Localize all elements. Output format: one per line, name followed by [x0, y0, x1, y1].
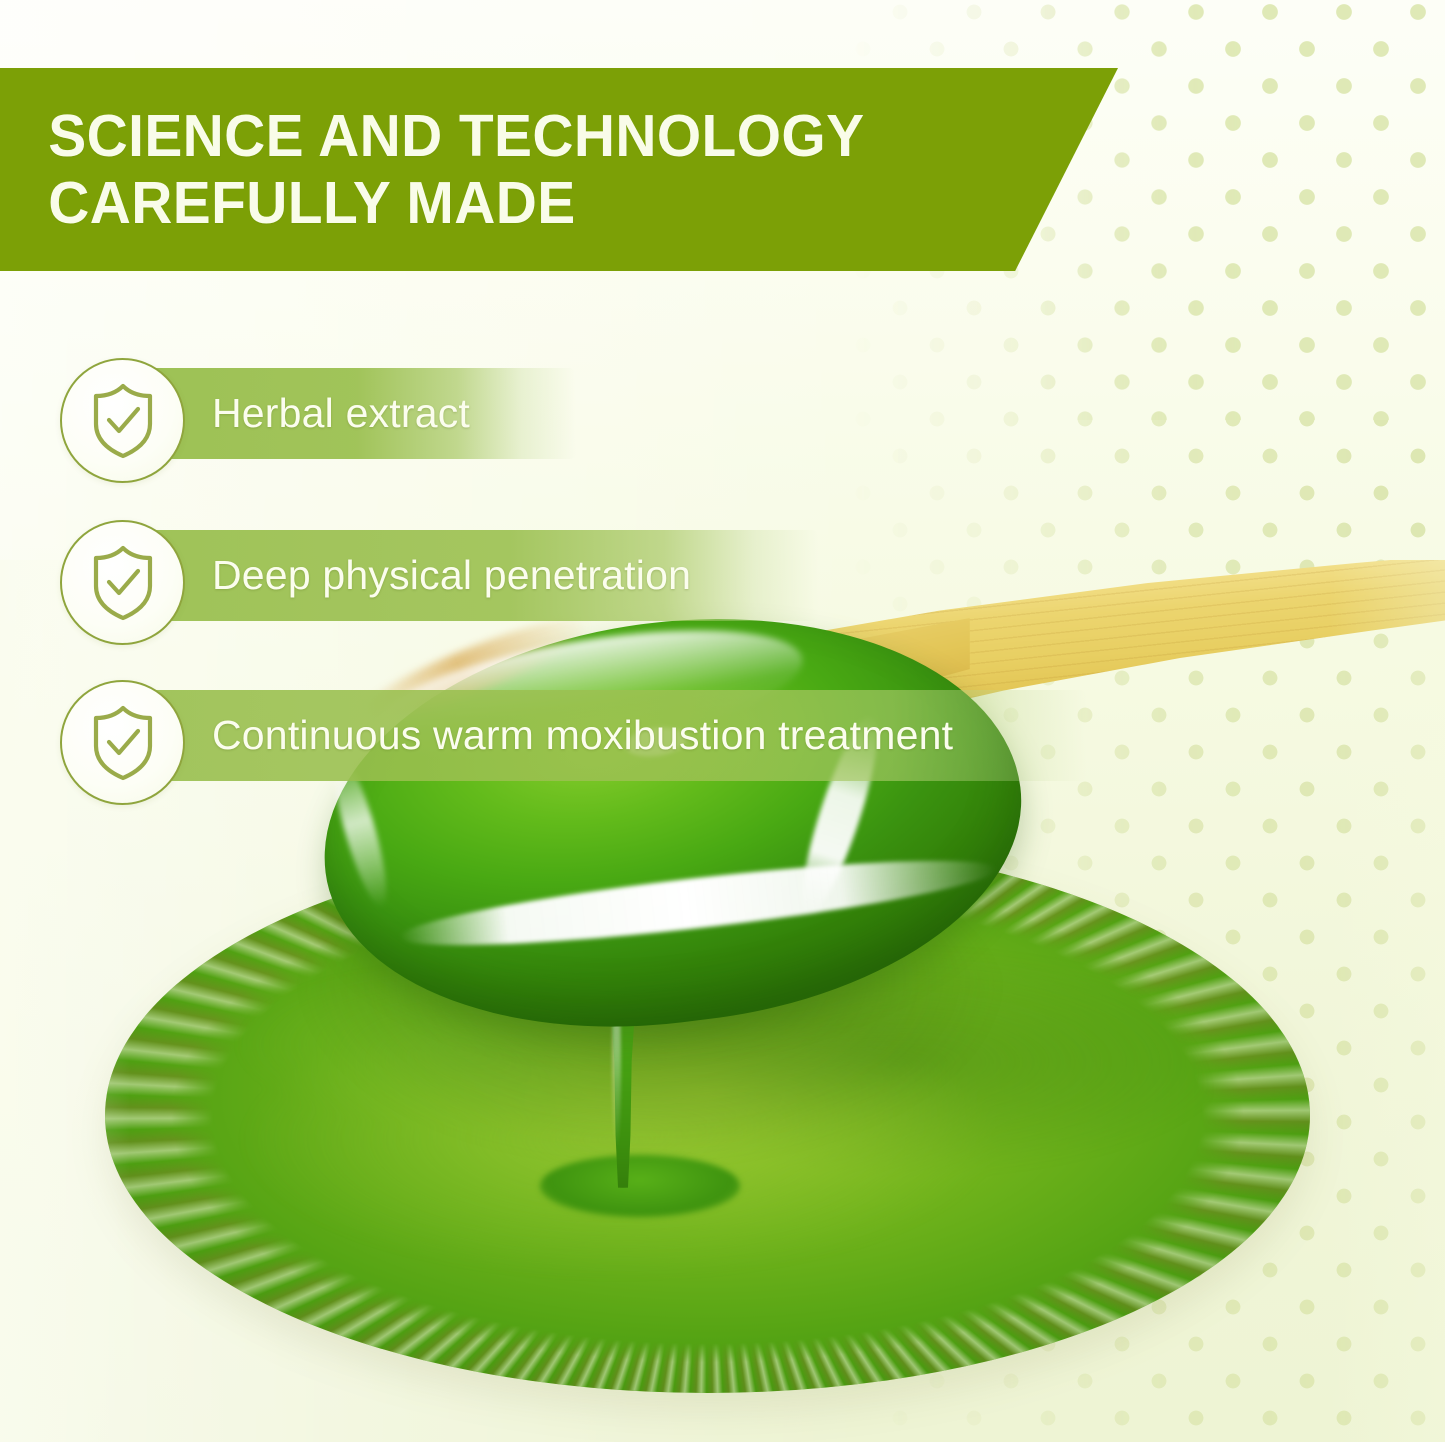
- feature-label: Continuous warm moxibustion treatment: [212, 690, 953, 781]
- feature-badge: [60, 358, 185, 483]
- shield-check-icon: [87, 382, 159, 460]
- feature-label: Deep physical penetration: [212, 530, 691, 621]
- shield-check-icon: [87, 704, 159, 782]
- shield-check-icon: [87, 544, 159, 622]
- page-title: SCIENCE AND TECHNOLOGY CAREFULLY MADE: [0, 103, 864, 235]
- feature-badge: [60, 520, 185, 645]
- feature-badge: [60, 680, 185, 805]
- feature-label: Herbal extract: [212, 368, 470, 459]
- product-feature-poster: SCIENCE AND TECHNOLOGY CAREFULLY MADE He…: [0, 0, 1445, 1442]
- header-banner: SCIENCE AND TECHNOLOGY CAREFULLY MADE: [0, 68, 1118, 271]
